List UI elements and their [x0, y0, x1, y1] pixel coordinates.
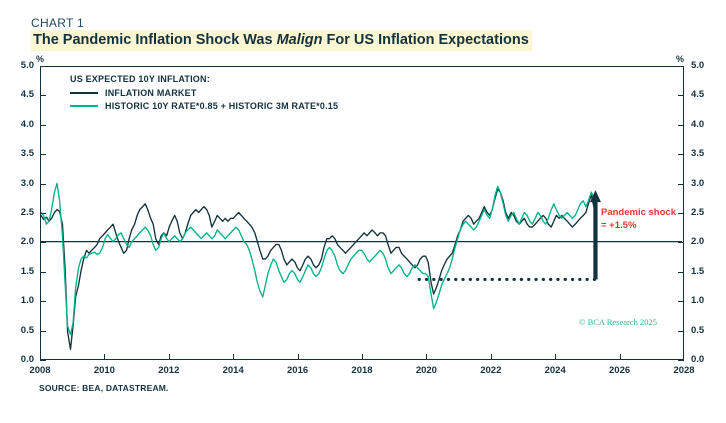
- legend-swatch-line-icon: [70, 105, 98, 107]
- y-tick-label-right: 1.0: [691, 295, 717, 306]
- y-tick-mark: [40, 125, 46, 126]
- y-tick-label-right: 0.0: [691, 354, 717, 365]
- y-tick-label-right: 3.5: [691, 148, 717, 159]
- y-tick-mark: [40, 95, 46, 96]
- x-tick-mark: [104, 354, 105, 360]
- y-tick-mark: [678, 331, 684, 332]
- y-tick-mark: [678, 125, 684, 126]
- y-tick-mark: [40, 154, 46, 155]
- x-tick-label: 2012: [149, 365, 189, 376]
- x-tick-label: 2022: [471, 365, 511, 376]
- legend-heading: US EXPECTED 10Y INFLATION:: [70, 74, 338, 84]
- y-tick-label-left: 1.0: [8, 295, 34, 306]
- y-tick-label-right: 2.0: [691, 236, 717, 247]
- series-line-inflation-market: [41, 189, 594, 349]
- y-tick-mark: [678, 272, 684, 273]
- legend-item-label: HISTORIC 10Y RATE*0.85 + HISTORIC 3M RAT…: [105, 101, 338, 111]
- series-line-historic-blend: [41, 183, 594, 334]
- y-axis-unit-right: %: [676, 54, 684, 64]
- legend-item-inflation-market: INFLATION MARKET: [70, 88, 338, 98]
- y-tick-label-left: 3.0: [8, 178, 34, 189]
- title-segment-1: The Pandemic Inflation Shock Was: [33, 32, 277, 48]
- y-tick-label-right: 2.5: [691, 207, 717, 218]
- y-tick-mark: [678, 301, 684, 302]
- y-tick-mark: [678, 184, 684, 185]
- y-tick-label-left: 2.0: [8, 236, 34, 247]
- y-tick-label-left: 2.5: [8, 207, 34, 218]
- y-tick-mark: [40, 242, 46, 243]
- y-tick-label-left: 5.0: [8, 60, 34, 71]
- title-segment-2: For US Inflation Expectations: [323, 32, 529, 48]
- x-tick-mark: [555, 354, 556, 360]
- copyright-notice: © BCA Research 2025: [579, 317, 657, 327]
- x-tick-label: 2010: [84, 365, 124, 376]
- x-tick-label: 2024: [535, 365, 575, 376]
- y-tick-label-right: 4.5: [691, 89, 717, 100]
- x-tick-mark: [169, 354, 170, 360]
- y-tick-label-left: 4.0: [8, 119, 34, 130]
- x-tick-label: 2014: [213, 365, 253, 376]
- y-tick-mark: [40, 66, 46, 67]
- pandemic-shock-annotation: Pandemic shock = +1.5%: [601, 206, 676, 232]
- annotation-line-1: Pandemic shock: [601, 206, 676, 219]
- y-tick-mark: [678, 154, 684, 155]
- y-axis-unit-left: %: [36, 54, 44, 64]
- x-tick-label: 2016: [278, 365, 318, 376]
- x-tick-label: 2008: [20, 365, 60, 376]
- y-tick-label-left: 3.5: [8, 148, 34, 159]
- chart-title: The Pandemic Inflation Shock Was Malign …: [31, 30, 532, 51]
- y-tick-label-left: 1.5: [8, 266, 34, 277]
- y-tick-mark: [40, 331, 46, 332]
- x-tick-mark: [298, 354, 299, 360]
- y-tick-label-right: 0.5: [691, 325, 717, 336]
- x-tick-mark: [233, 354, 234, 360]
- y-tick-mark: [678, 213, 684, 214]
- legend-item-historic-blend: HISTORIC 10Y RATE*0.85 + HISTORIC 3M RAT…: [70, 101, 338, 111]
- y-tick-mark: [40, 272, 46, 273]
- y-tick-label-right: 5.0: [691, 60, 717, 71]
- x-tick-label: 2026: [600, 365, 640, 376]
- y-tick-mark: [40, 213, 46, 214]
- x-tick-mark: [491, 354, 492, 360]
- y-tick-label-left: 0.5: [8, 325, 34, 336]
- x-tick-mark: [620, 354, 621, 360]
- x-tick-mark: [426, 354, 427, 360]
- source-note: SOURCE: BEA, DATASTREAM.: [39, 383, 169, 393]
- x-tick-label: 2018: [342, 365, 382, 376]
- y-tick-label-left: 0.0: [8, 354, 34, 365]
- y-tick-mark: [678, 360, 684, 361]
- chart-number-label: CHART 1: [31, 16, 84, 30]
- x-tick-mark: [362, 354, 363, 360]
- title-emphasis: Malign: [277, 32, 323, 48]
- x-tick-label: 2020: [406, 365, 446, 376]
- legend-swatch-line-icon: [70, 92, 98, 94]
- chart-page: CHART 1 The Pandemic Inflation Shock Was…: [0, 0, 726, 423]
- legend: US EXPECTED 10Y INFLATION: INFLATION MAR…: [70, 74, 338, 114]
- y-tick-mark: [40, 301, 46, 302]
- y-tick-mark: [40, 360, 46, 361]
- y-tick-label-right: 4.0: [691, 119, 717, 130]
- y-tick-mark: [678, 66, 684, 67]
- y-tick-mark: [40, 184, 46, 185]
- y-tick-label-right: 3.0: [691, 178, 717, 189]
- y-tick-label-right: 1.5: [691, 266, 717, 277]
- x-tick-label: 2028: [664, 365, 704, 376]
- annotation-line-2: = +1.5%: [601, 219, 676, 232]
- y-tick-label-left: 4.5: [8, 89, 34, 100]
- legend-item-label: INFLATION MARKET: [105, 88, 197, 98]
- y-tick-mark: [678, 242, 684, 243]
- y-tick-mark: [678, 95, 684, 96]
